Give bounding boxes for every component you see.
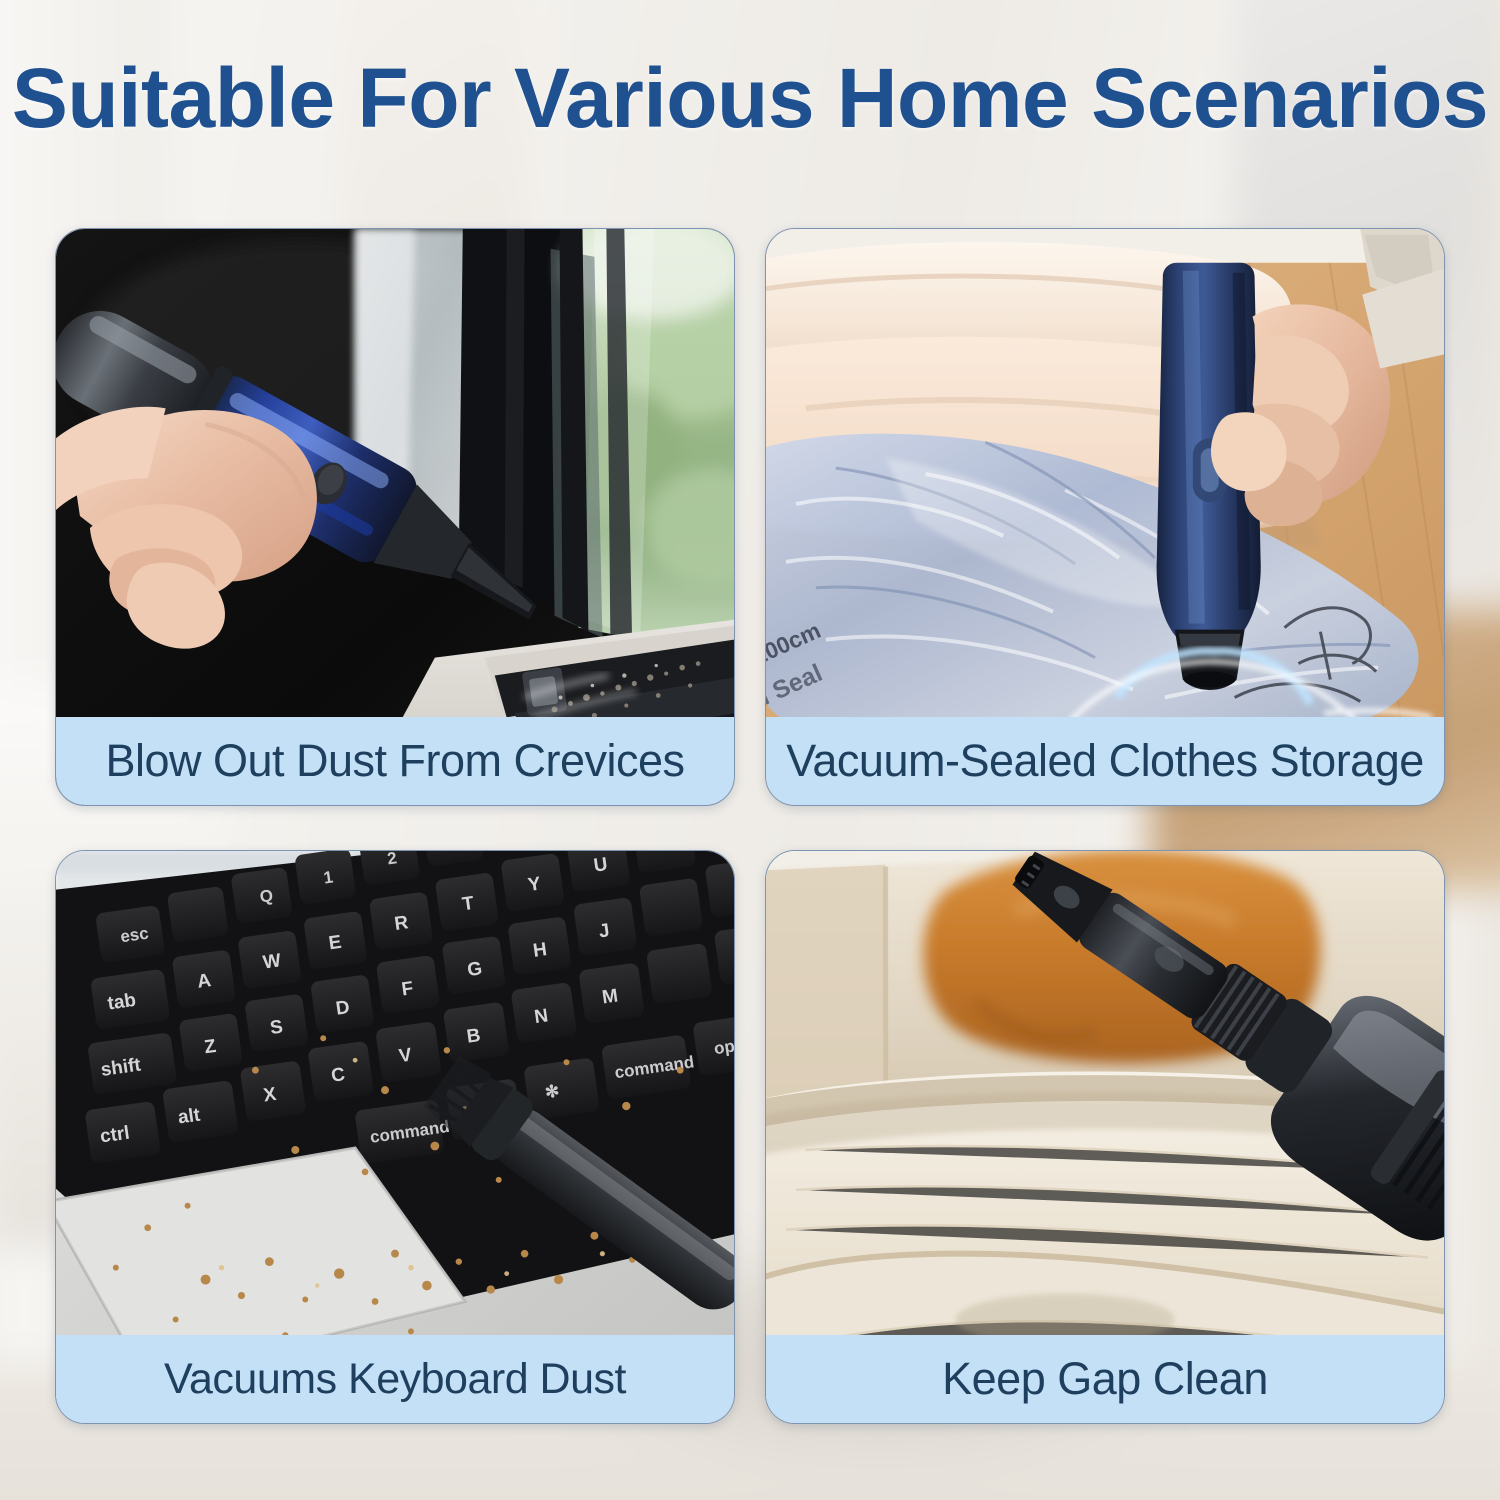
svg-text:✻: ✻ bbox=[544, 1081, 561, 1102]
svg-text:H: H bbox=[532, 939, 548, 962]
infographic-stage: Suitable For Various Home Scenarios bbox=[0, 0, 1500, 1500]
scenario-card-keep-gap-clean[interactable]: Keep Gap Clean bbox=[765, 850, 1445, 1424]
caption-text: Vacuum-Sealed Clothes Storage bbox=[786, 735, 1424, 787]
card-caption-blow-out-dust: Blow Out Dust From Crevices bbox=[56, 717, 734, 805]
card-caption-keep-gap-clean: Keep Gap Clean bbox=[766, 1335, 1444, 1423]
card-caption-vacuums-keyboard-dust: Vacuums Keyboard Dust bbox=[56, 1335, 734, 1423]
scenario-card-vacuums-keyboard-dust[interactable]: esc Q 1 2 3 4 5 6 bbox=[55, 850, 735, 1424]
svg-text:M: M bbox=[601, 985, 620, 1008]
svg-text:N: N bbox=[533, 1005, 549, 1028]
svg-text:W: W bbox=[262, 950, 283, 973]
svg-text:ctrl: ctrl bbox=[99, 1123, 131, 1148]
caption-text: Vacuums Keyboard Dust bbox=[164, 1355, 626, 1404]
caption-text: Blow Out Dust From Crevices bbox=[105, 735, 684, 787]
svg-text:Q: Q bbox=[259, 886, 275, 907]
svg-text:B: B bbox=[465, 1025, 481, 1048]
scenario-card-blow-out-dust[interactable]: Blow Out Dust From Crevices bbox=[55, 228, 735, 806]
svg-text:tab: tab bbox=[106, 990, 137, 1015]
svg-text:U: U bbox=[592, 854, 608, 877]
caption-text: Keep Gap Clean bbox=[942, 1353, 1268, 1405]
svg-text:esc: esc bbox=[119, 924, 150, 947]
page-title: Suitable For Various Home Scenarios bbox=[0, 56, 1500, 140]
svg-text:D: D bbox=[335, 997, 351, 1020]
scenario-card-vacuum-sealed-clothes[interactable]: 100cm n Seal bbox=[765, 228, 1445, 806]
card-caption-vacuum-sealed-clothes: Vacuum-Sealed Clothes Storage bbox=[766, 717, 1444, 805]
svg-text:G: G bbox=[466, 958, 484, 981]
svg-text:alt: alt bbox=[177, 1105, 202, 1129]
scenario-grid: Blow Out Dust From Crevices bbox=[55, 228, 1445, 1424]
